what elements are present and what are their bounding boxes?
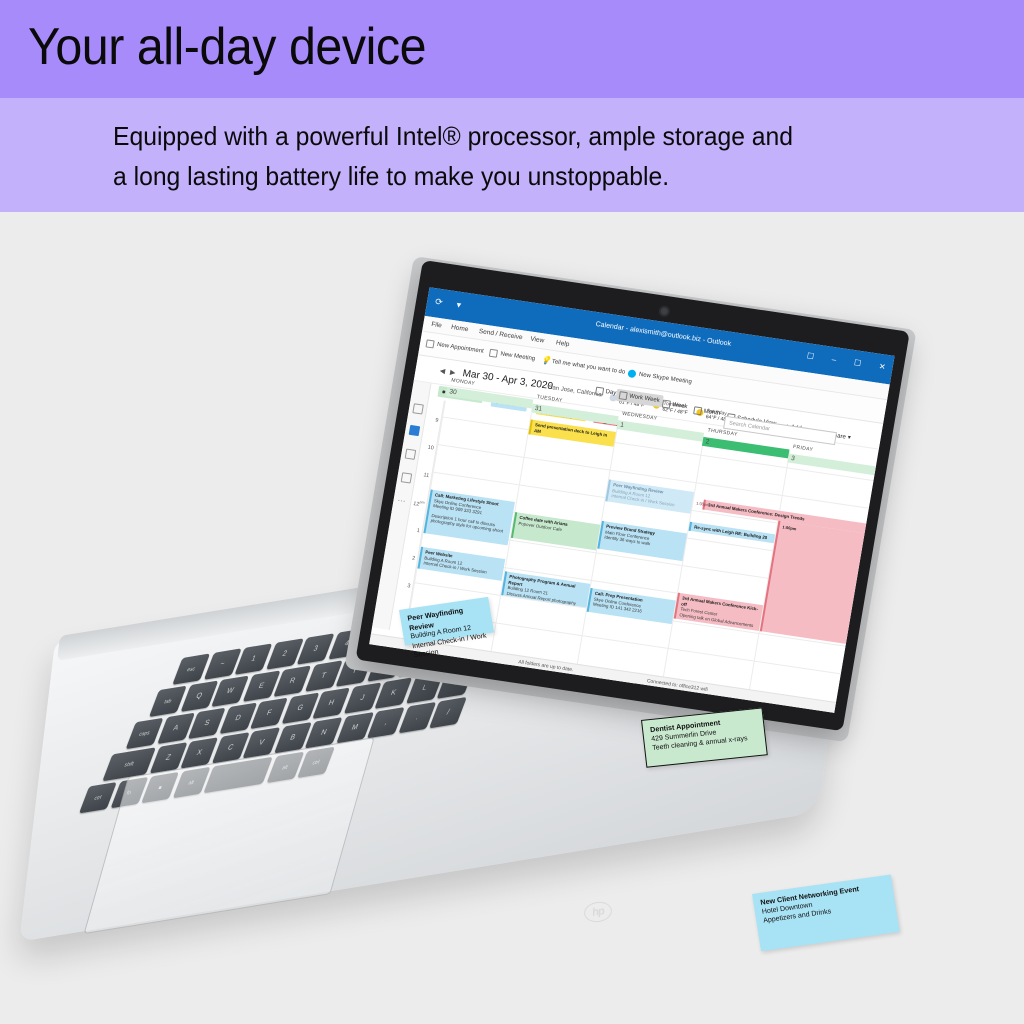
laptop-device: esc~123456789 tabQWERTYUIOP capsASDFGHJK… (0, 212, 1024, 1024)
day-number-monday: 30 (449, 388, 457, 396)
week-view-icon (662, 400, 671, 409)
hour-label-2: 2 (411, 556, 415, 562)
view-button-month-label: Month (703, 409, 721, 417)
tell-me-label: Tell me what you want to do (551, 359, 625, 376)
calendar-grid[interactable]: 9 10 11 12pm 1 2 3 4 (387, 398, 876, 713)
menu-item-file[interactable]: File (431, 321, 443, 329)
new-skype-meeting-label: New Skype Meeting (638, 372, 692, 386)
lightbulb-icon: 💡 (540, 356, 549, 365)
page-title: Your all-day device (28, 16, 426, 78)
hour-label-9: 9 (435, 418, 439, 424)
day-number-tuesday: 31 (534, 405, 542, 413)
promo-subtext-line2: a long lasting battery life to make you … (113, 156, 949, 196)
day-view-icon (595, 387, 604, 396)
menu-item-send-receive[interactable]: Send / Receive (478, 328, 523, 341)
view-button-month[interactable]: Month (690, 404, 724, 421)
people-icon[interactable] (405, 449, 417, 460)
menu-item-home[interactable]: Home (451, 324, 469, 333)
tasks-icon[interactable] (401, 472, 413, 483)
hour-label-11: 11 (423, 472, 430, 479)
maximize-icon[interactable]: ☐ (853, 358, 862, 368)
close-icon[interactable]: ✕ (878, 362, 886, 372)
menu-item-help[interactable]: Help (555, 339, 569, 348)
calendar-icon[interactable] (409, 425, 421, 436)
event-friday-conference-block[interactable]: 1:00pm (760, 521, 865, 644)
promo-subtext-band: intel INSIDE Equipped with a powerful In… (0, 98, 1024, 212)
new-skype-meeting-button[interactable]: New Skype Meeting (627, 369, 692, 386)
category-filter-chips[interactable]: Personal ✕ Work ✕ Reminders ✕ (437, 386, 439, 398)
window-controls[interactable]: ☐ – ☐ ✕ (806, 351, 886, 371)
day-number-wednesday: 1 (620, 422, 625, 429)
hp-logo: hp (583, 900, 614, 924)
chevron-down-icon-2: ▾ (847, 434, 851, 441)
product-photo: esc~123456789 tabQWERTYUIOP capsASDFGHJK… (0, 212, 1024, 1024)
more-icon[interactable]: ▾ (456, 299, 462, 311)
day-number-thursday: 2 (705, 438, 710, 445)
menu-item-view[interactable]: View (530, 336, 545, 345)
restore-icon[interactable]: ☐ (806, 351, 815, 361)
new-appointment-icon (425, 339, 434, 348)
webcam-icon (660, 307, 668, 315)
new-meeting-button[interactable]: New Meeting (489, 349, 536, 364)
laptop-lid: ⟳ ▾ Calendar - alexismith@outlook.biz - … (355, 260, 909, 731)
view-button-work-week-label: Work Week (629, 394, 660, 404)
view-button-day-label: Day (605, 389, 617, 396)
hour-label-1: 1 (416, 528, 420, 534)
hour-label-3: 3 (407, 583, 411, 589)
date-nav-arrows[interactable]: ◀▶ (439, 367, 461, 378)
sync-icon[interactable]: ⟳ (434, 296, 443, 308)
promo-subtext: Equipped with a powerful Intel® processo… (113, 116, 949, 196)
new-meeting-label: New Meeting (500, 351, 536, 362)
skype-icon (627, 369, 636, 378)
promo-headline-band: Your all-day device (0, 0, 1024, 98)
new-appointment-label: New Appointment (437, 342, 485, 355)
new-appointment-button[interactable]: New Appointment (425, 339, 484, 355)
day-number-friday: 3 (790, 455, 795, 462)
mail-icon[interactable] (412, 403, 424, 414)
hour-label-12: 12pm (413, 499, 425, 508)
month-view-icon (693, 406, 702, 415)
promo-subtext-line1: Equipped with a powerful Intel® processo… (113, 116, 949, 156)
more-icon-rail[interactable]: ⋯ (397, 496, 409, 507)
hour-label-10: 10 (427, 445, 434, 452)
sticky-note-networking: New Client Networking Event Hotel Downto… (752, 875, 900, 952)
tell-me-box[interactable]: 💡 Tell me what you want to do (540, 356, 625, 376)
view-button-week-label: Week (672, 402, 688, 410)
work-week-view-icon (619, 391, 628, 400)
quick-access-toolbar[interactable]: ⟳ ▾ (434, 296, 462, 311)
minimize-icon[interactable]: – (831, 355, 837, 365)
new-meeting-icon (489, 349, 498, 358)
